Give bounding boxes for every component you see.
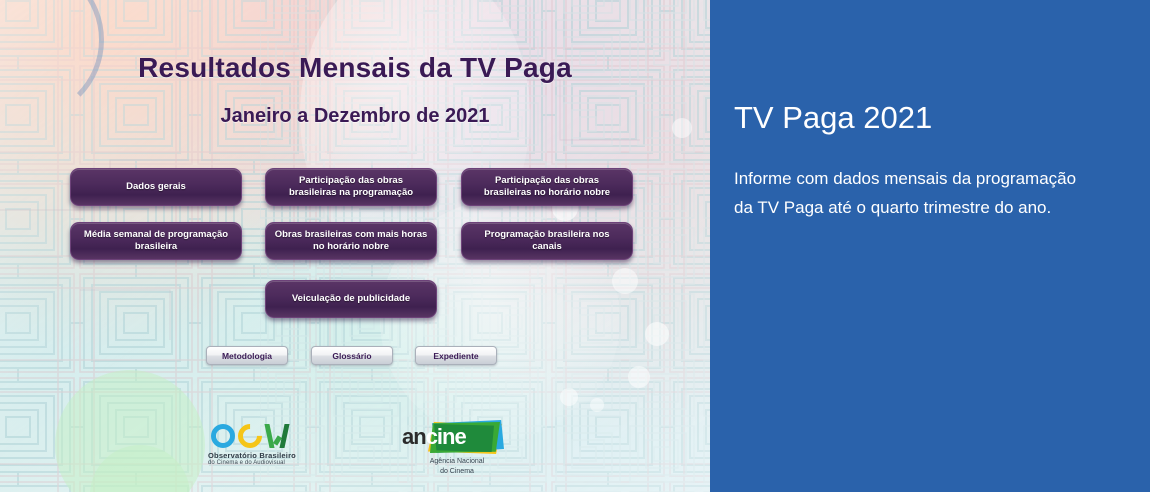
menu-button-participacao-horario-nobre[interactable]: Participação das obras brasileiras no ho… [461, 168, 633, 206]
footer-button-expediente[interactable]: Expediente [415, 346, 497, 365]
ancine-wordmark-icon: ancine [402, 420, 512, 456]
ancine-logo-line2: do Cinema [402, 467, 512, 476]
slide-root: Resultados Mensais da TV Paga Janeiro a … [0, 0, 1150, 492]
footer-button-metodologia[interactable]: Metodologia [206, 346, 288, 365]
menu-button-obras-mais-horas[interactable]: Obras brasileiras com mais horas no horá… [265, 222, 437, 260]
ancine-logo: ancine Agência Nacional do Cinema [402, 420, 517, 478]
menu-button-grid: Dados gerais Participação das obras bras… [0, 0, 710, 492]
oca-logo-line1: Observatório Brasileiro [208, 451, 313, 460]
ancine-suffix: cine [426, 424, 466, 449]
side-panel-description: Informe com dados mensais da programação… [734, 164, 1084, 222]
oca-logo: Observatório Brasileiro do Cinema e do A… [208, 423, 313, 475]
oca-letter-a-icon [265, 424, 291, 448]
menu-button-participacao-programacao[interactable]: Participação das obras brasileiras na pr… [265, 168, 437, 206]
oca-wordmark-icon [208, 423, 313, 449]
side-panel-title: TV Paga 2021 [734, 100, 1124, 136]
cover-panel: Resultados Mensais da TV Paga Janeiro a … [0, 0, 710, 492]
ancine-logo-line1: Agência Nacional [402, 457, 512, 466]
oca-letter-c-icon [233, 419, 267, 453]
ancine-text: ancine [402, 424, 466, 450]
menu-button-programacao-canais[interactable]: Programação brasileira nos canais [461, 222, 633, 260]
ancine-prefix: an [402, 424, 426, 449]
menu-button-veiculacao-publicidade[interactable]: Veiculação de publicidade [265, 280, 437, 318]
menu-button-dados-gerais[interactable]: Dados gerais [70, 168, 242, 206]
oca-logo-line2: do Cinema e do Audiovisual [208, 460, 313, 466]
footer-button-glossario[interactable]: Glossário [311, 346, 393, 365]
side-info-panel: TV Paga 2021 Informe com dados mensais d… [710, 0, 1150, 492]
menu-button-media-semanal[interactable]: Média semanal de programação brasileira [70, 222, 242, 260]
oca-letter-o-icon [211, 424, 235, 448]
